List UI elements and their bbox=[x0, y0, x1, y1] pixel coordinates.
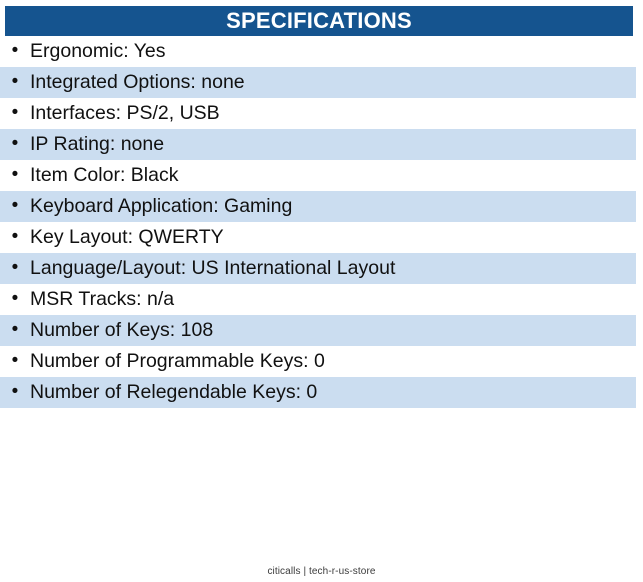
spec-list-item-text: Item Color: Black bbox=[30, 166, 178, 186]
spec-list-item: •Item Color: Black bbox=[0, 160, 636, 191]
spec-list-item-text: Key Layout: QWERTY bbox=[30, 228, 224, 248]
bullet-icon: • bbox=[0, 258, 30, 280]
spec-list-item: •MSR Tracks: n/a bbox=[0, 284, 636, 315]
spec-list-item: •Integrated Options: none bbox=[0, 67, 636, 98]
spec-list-item: •Number of Programmable Keys: 0 bbox=[0, 346, 636, 377]
bullet-icon: • bbox=[0, 289, 30, 311]
page-title: SPECIFICATIONS bbox=[226, 10, 412, 32]
bullet-icon: • bbox=[0, 320, 30, 342]
spec-list-item-text: Integrated Options: none bbox=[30, 73, 245, 93]
spec-list-item-text: Number of Relegendable Keys: 0 bbox=[30, 383, 317, 403]
bullet-icon: • bbox=[0, 103, 30, 125]
specifications-header-bar: SPECIFICATIONS bbox=[5, 6, 633, 36]
spec-list-item-text: Keyboard Application: Gaming bbox=[30, 197, 292, 217]
spec-list-item-text: MSR Tracks: n/a bbox=[30, 290, 174, 310]
spec-list-item-text: Ergonomic: Yes bbox=[30, 42, 166, 62]
bullet-icon: • bbox=[0, 196, 30, 218]
spec-list-item-text: Number of Keys: 108 bbox=[30, 321, 213, 341]
specifications-list: •Ergonomic: Yes•Integrated Options: none… bbox=[0, 36, 636, 408]
bullet-icon: • bbox=[0, 351, 30, 373]
spec-list-item-text: Language/Layout: US International Layout bbox=[30, 259, 395, 279]
footer: citicalls | tech-r-us-store bbox=[0, 561, 643, 579]
bullet-icon: • bbox=[0, 41, 30, 63]
footer-attribution: citicalls | tech-r-us-store bbox=[267, 566, 375, 577]
bullet-icon: • bbox=[0, 165, 30, 187]
specifications-sheet: SPECIFICATIONS •Ergonomic: Yes•Integrate… bbox=[0, 0, 643, 582]
spec-list-item: •Interfaces: PS/2, USB bbox=[0, 98, 636, 129]
spec-list-item: •Number of Keys: 108 bbox=[0, 315, 636, 346]
spec-list-item-text: Interfaces: PS/2, USB bbox=[30, 104, 220, 124]
spec-list-item: •Ergonomic: Yes bbox=[0, 36, 636, 67]
spec-list-item: •IP Rating: none bbox=[0, 129, 636, 160]
bullet-icon: • bbox=[0, 72, 30, 94]
spec-list-item: •Keyboard Application: Gaming bbox=[0, 191, 636, 222]
spec-list-item: •Number of Relegendable Keys: 0 bbox=[0, 377, 636, 408]
spec-list-item: •Language/Layout: US International Layou… bbox=[0, 253, 636, 284]
bullet-icon: • bbox=[0, 382, 30, 404]
spec-list-item: •Key Layout: QWERTY bbox=[0, 222, 636, 253]
spec-list-item-text: Number of Programmable Keys: 0 bbox=[30, 352, 325, 372]
spec-list-item-text: IP Rating: none bbox=[30, 135, 164, 155]
bullet-icon: • bbox=[0, 134, 30, 156]
bullet-icon: • bbox=[0, 227, 30, 249]
